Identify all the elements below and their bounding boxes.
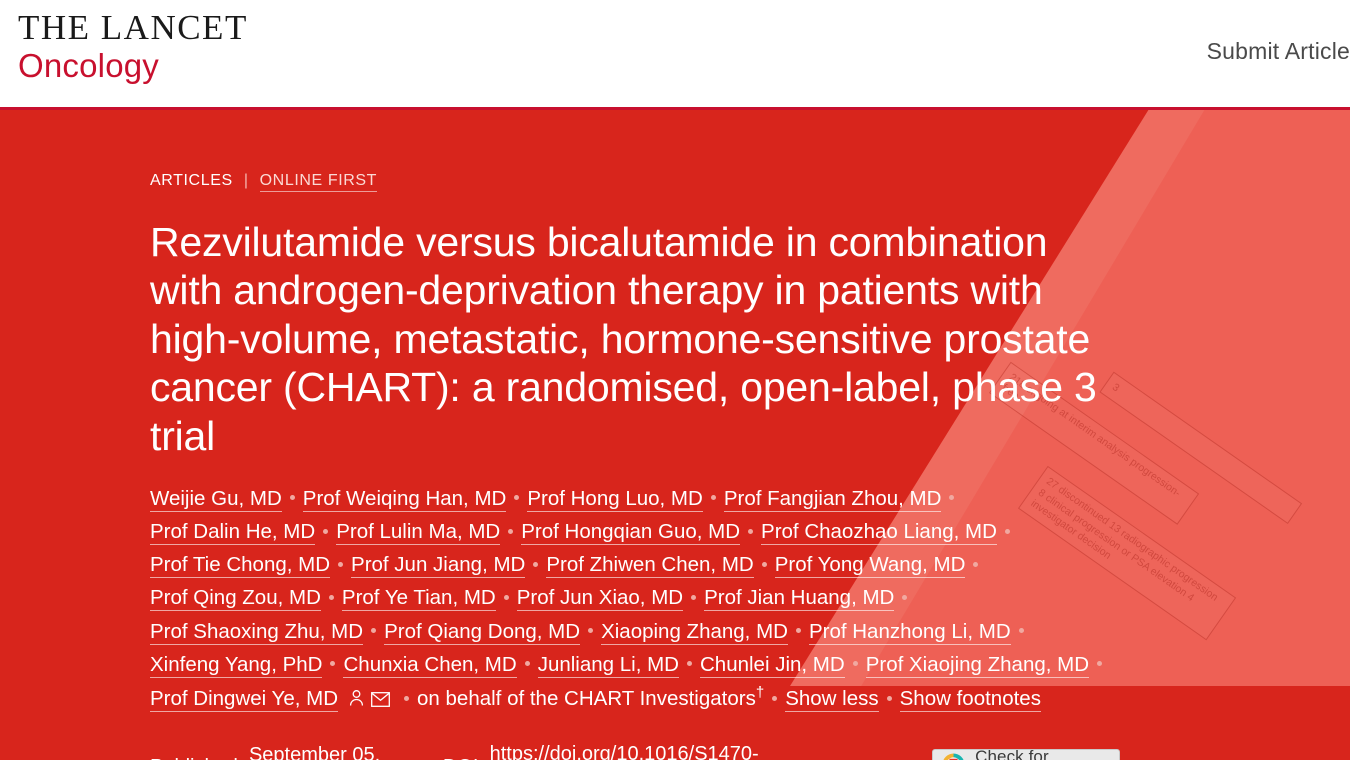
author-separator-dot bbox=[404, 696, 409, 701]
show-footnotes-button[interactable]: Show footnotes bbox=[900, 687, 1041, 712]
author-separator-dot bbox=[748, 529, 753, 534]
email-icon[interactable] bbox=[371, 687, 396, 710]
kicker-article-type: ARTICLES bbox=[150, 172, 233, 189]
author-link[interactable]: Prof Qing Zou, MD bbox=[150, 586, 321, 611]
author-link[interactable]: Junliang Li, MD bbox=[538, 653, 679, 678]
author-separator-dot bbox=[330, 661, 335, 666]
publication-meta: Published: September 05, 2022 DOI: https… bbox=[150, 743, 1120, 760]
author-separator-dot bbox=[691, 595, 696, 600]
submit-article-link[interactable]: Submit Article bbox=[1207, 38, 1350, 64]
author-profile-icon[interactable] bbox=[348, 687, 371, 710]
author-separator-dot bbox=[902, 595, 907, 600]
author-separator-dot bbox=[711, 495, 716, 500]
author-link[interactable]: Prof Hongqian Guo, MD bbox=[521, 520, 740, 545]
author-list: Weijie Gu, MDProf Weiqing Han, MDProf Ho… bbox=[150, 482, 1120, 715]
kicker-separator: | bbox=[244, 172, 249, 189]
author-link[interactable]: Prof Qiang Dong, MD bbox=[384, 620, 580, 645]
published-date: September 05, 2022 bbox=[249, 744, 422, 760]
author-link[interactable]: Prof Dalin He, MD bbox=[150, 520, 315, 545]
author-link[interactable]: Prof Jun Jiang, MD bbox=[351, 553, 525, 578]
author-link[interactable]: Prof Chaozhao Liang, MD bbox=[761, 520, 997, 545]
author-separator-dot bbox=[687, 661, 692, 666]
author-separator-dot bbox=[1005, 529, 1010, 534]
author-separator-dot bbox=[508, 529, 513, 534]
behalf-label: on behalf of the CHART Investigators bbox=[417, 687, 756, 710]
author-separator-dot bbox=[973, 562, 978, 567]
author-separator-dot bbox=[371, 628, 376, 633]
author-separator-dot bbox=[588, 628, 593, 633]
author-separator-dot bbox=[504, 595, 509, 600]
author-separator-dot bbox=[1019, 628, 1024, 633]
author-separator-dot bbox=[796, 628, 801, 633]
author-separator-dot bbox=[853, 661, 858, 666]
author-link[interactable]: Prof Hong Luo, MD bbox=[527, 487, 702, 512]
author-separator-dot bbox=[533, 562, 538, 567]
article-hero: 3 218 ongoing at interim analysis progre… bbox=[0, 110, 1350, 760]
on-behalf-of-text: on behalf of the CHART Investigators† bbox=[417, 687, 764, 710]
author-link[interactable]: Prof Weiqing Han, MD bbox=[303, 487, 507, 512]
author-separator-dot bbox=[290, 495, 295, 500]
author-separator-dot bbox=[949, 495, 954, 500]
author-separator-dot bbox=[762, 562, 767, 567]
author-separator-dot bbox=[338, 562, 343, 567]
published-label: Published: bbox=[150, 756, 243, 760]
crossmark-logo-icon bbox=[941, 752, 966, 760]
author-link[interactable]: Chunlei Jin, MD bbox=[700, 653, 845, 678]
article-title: Rezvilutamide versus bicalutamide in com… bbox=[150, 218, 1120, 460]
site-logo[interactable]: THE LANCET Oncology bbox=[0, 10, 248, 82]
show-less-button[interactable]: Show less bbox=[785, 687, 878, 712]
author-link[interactable]: Prof Jian Huang, MD bbox=[704, 586, 894, 611]
brand-journal-text: Oncology bbox=[18, 49, 248, 82]
author-link[interactable]: Prof Shaoxing Zhu, MD bbox=[150, 620, 363, 645]
author-separator-dot bbox=[514, 495, 519, 500]
header-nav: Submit Article bbox=[1183, 38, 1350, 65]
author-link[interactable]: Xiaoping Zhang, MD bbox=[601, 620, 788, 645]
brand-lancet-text: THE LANCET bbox=[18, 10, 248, 45]
author-link[interactable]: Chunxia Chen, MD bbox=[343, 653, 516, 678]
author-link[interactable]: Prof Fangjian Zhou, MD bbox=[724, 487, 942, 512]
author-link[interactable]: Prof Hanzhong Li, MD bbox=[809, 620, 1011, 645]
author-link[interactable]: Prof Yong Wang, MD bbox=[775, 553, 966, 578]
crossmark-label: Check for updates bbox=[975, 747, 1107, 760]
author-separator-dot bbox=[772, 696, 777, 701]
author-link[interactable]: Prof Jun Xiao, MD bbox=[517, 586, 683, 611]
online-first-link[interactable]: ONLINE FIRST bbox=[260, 172, 377, 192]
doi-link[interactable]: https://doi.org/10.1016/S1470-2045(22)00… bbox=[490, 743, 894, 760]
author-link[interactable]: Prof Zhiwen Chen, MD bbox=[546, 553, 753, 578]
footnote-marker: † bbox=[756, 684, 764, 701]
author-separator-dot bbox=[525, 661, 530, 666]
author-link[interactable]: Prof Xiaojing Zhang, MD bbox=[866, 653, 1089, 678]
author-separator-dot bbox=[323, 529, 328, 534]
site-header: THE LANCET Oncology Submit Article bbox=[0, 0, 1350, 110]
author-link[interactable]: Weijie Gu, MD bbox=[150, 487, 282, 512]
article-kicker: ARTICLES | ONLINE FIRST bbox=[150, 172, 1120, 190]
doi-label: DOI: bbox=[443, 756, 484, 760]
author-link[interactable]: Xinfeng Yang, PhD bbox=[150, 653, 322, 678]
author-separator-dot bbox=[1097, 661, 1102, 666]
author-link[interactable]: Prof Tie Chong, MD bbox=[150, 553, 330, 578]
corresponding-author-icons bbox=[348, 682, 396, 715]
crossmark-badge[interactable]: Check for updates bbox=[932, 749, 1120, 760]
author-link[interactable]: Prof Dingwei Ye, MD bbox=[150, 687, 338, 712]
author-separator-dot bbox=[329, 595, 334, 600]
author-link[interactable]: Prof Ye Tian, MD bbox=[342, 586, 496, 611]
author-separator-dot bbox=[887, 696, 892, 701]
author-link[interactable]: Prof Lulin Ma, MD bbox=[336, 520, 500, 545]
